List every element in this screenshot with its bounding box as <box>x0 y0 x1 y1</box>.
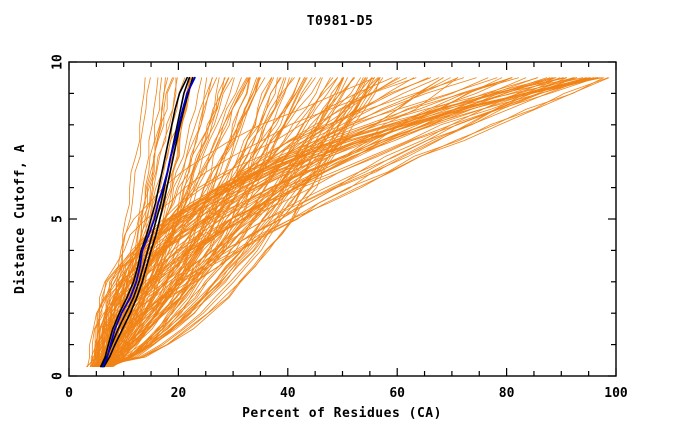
plot-area: 020406080100 0510 Percent of Residues (C… <box>0 0 680 440</box>
x-tick-label: 100 <box>604 386 628 401</box>
x-tick-label: 40 <box>280 386 296 401</box>
x-tick-label: 60 <box>389 386 405 401</box>
chart-figure: T0981-D5 020406080100 0510 Percent of Re… <box>0 0 680 440</box>
x-tick-label: 20 <box>171 386 187 401</box>
model-curves <box>87 78 609 367</box>
x-tick-labels: 020406080100 <box>65 386 628 401</box>
x-axis-label: Percent of Residues (CA) <box>242 406 442 421</box>
y-tick-label: 10 <box>51 54 66 70</box>
y-tick-label: 5 <box>51 215 66 223</box>
x-tick-label: 0 <box>65 386 73 401</box>
y-tick-labels: 0510 <box>51 54 66 380</box>
y-axis-label: Distance Cutoff, A <box>13 144 28 294</box>
x-tick-label: 80 <box>499 386 515 401</box>
y-tick-label: 0 <box>51 372 66 380</box>
